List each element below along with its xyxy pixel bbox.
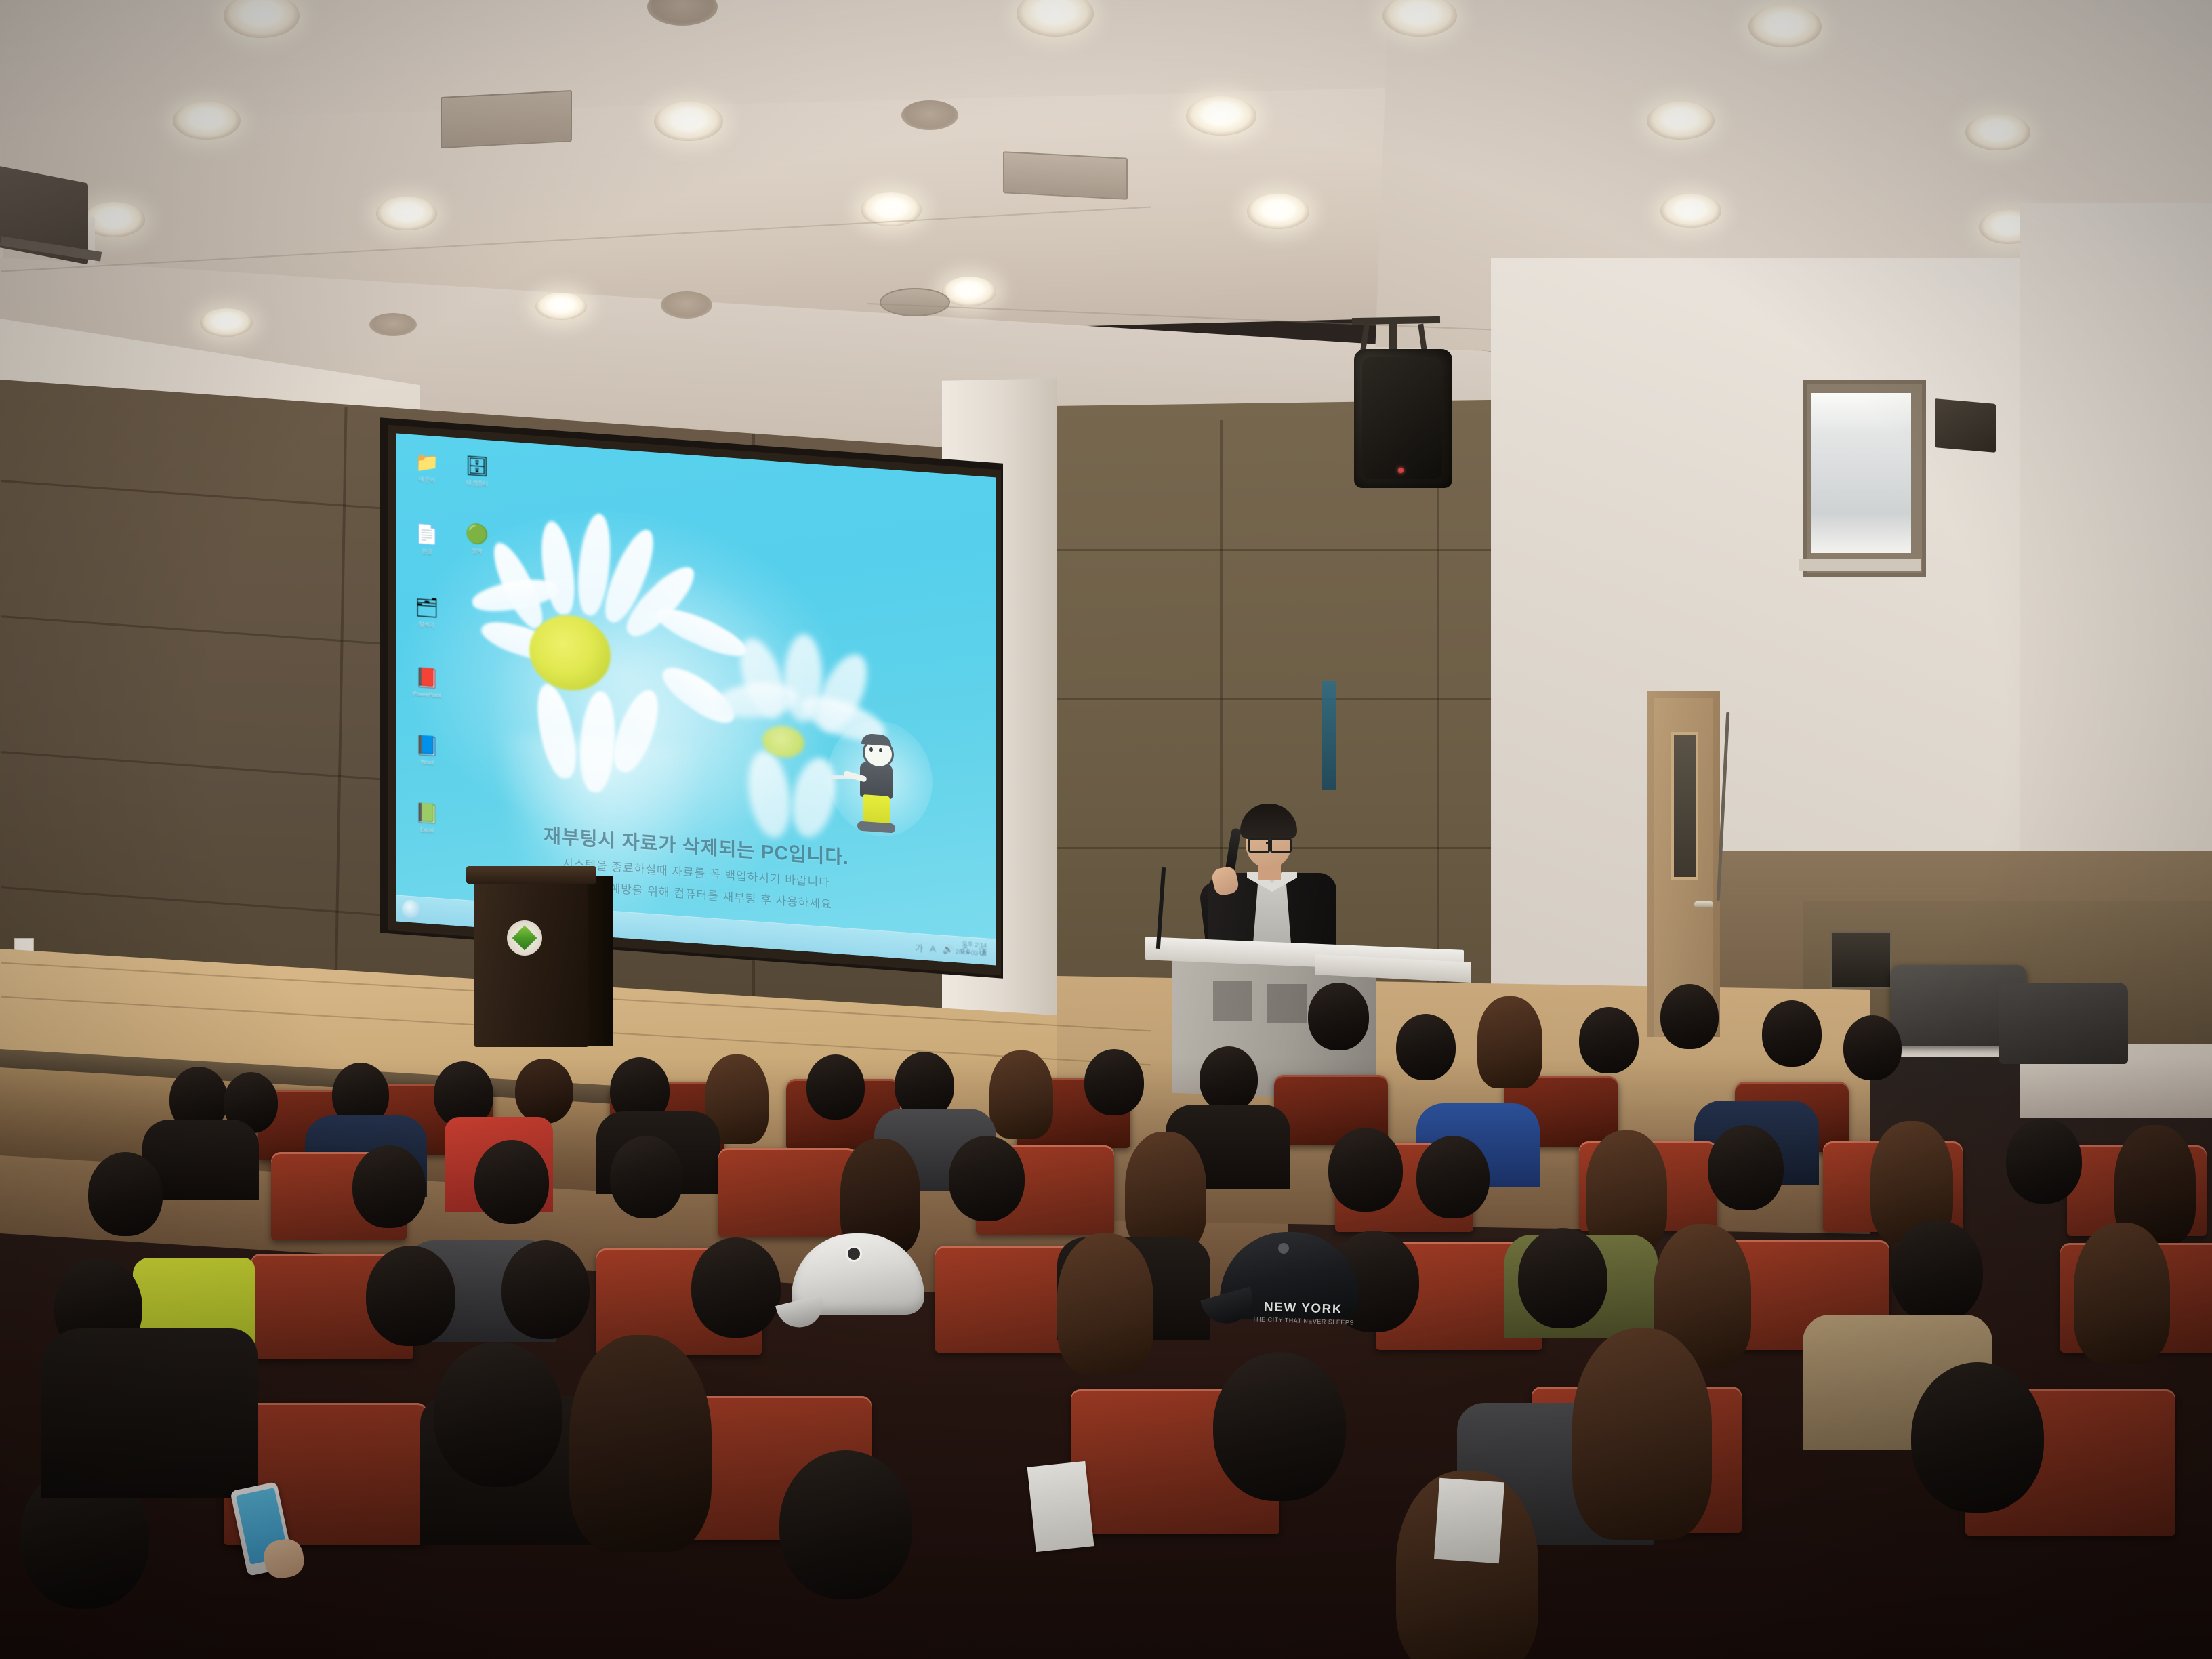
- audience-head: [610, 1136, 683, 1218]
- keyboard-layout-icon[interactable]: A: [930, 943, 936, 954]
- lectern-panel: [1267, 984, 1307, 1023]
- audience-head: [515, 1059, 573, 1124]
- university-crest-icon: [512, 926, 537, 951]
- audience-head: [474, 1140, 549, 1224]
- cap-button: [846, 1246, 862, 1262]
- ceiling-downlight: [661, 291, 712, 319]
- seat[interactable]: [718, 1148, 857, 1237]
- desktop-icon-powerpoint[interactable]: 📕 PowerPoint: [411, 665, 443, 699]
- ceiling-downlight: [200, 308, 253, 337]
- audience-head: [779, 1450, 912, 1599]
- audience-head: [1308, 983, 1369, 1050]
- audience-head: [1572, 1328, 1712, 1540]
- ceiling-vent: [1003, 151, 1128, 200]
- lectern-panel: [1213, 981, 1252, 1021]
- pa-speaker-bracket-post: [1389, 319, 1397, 352]
- audience-head: [1328, 1128, 1403, 1212]
- projection-booth-window-sill: [1799, 559, 1921, 571]
- audience-head: [1057, 1233, 1153, 1374]
- ceiling-downlight: [1965, 114, 2030, 150]
- audience-head: [1579, 1007, 1639, 1073]
- audience-head: [1891, 1220, 1983, 1323]
- start-button[interactable]: [402, 899, 421, 920]
- glasses-icon: [1270, 838, 1292, 853]
- audience-head: [1660, 984, 1719, 1049]
- note-paper: [1434, 1478, 1504, 1563]
- audience-shoulders: [41, 1328, 258, 1498]
- auditorium-photo: 재부팅시 자료가 삭제되는 PC입니다. 시스템을 종료하실때 자료를 꼭 백업…: [0, 0, 2212, 1659]
- audience-head: [1708, 1125, 1784, 1210]
- door-handle[interactable]: [1694, 901, 1713, 907]
- ceiling-vent: [441, 90, 572, 148]
- audience-head: [88, 1152, 163, 1236]
- desktop-icon-my-computer[interactable]: 🗄 내 컴퓨터: [462, 453, 493, 489]
- ceiling-downlight: [901, 100, 958, 130]
- podium-side: [587, 876, 613, 1046]
- powerpoint-icon: 📕: [413, 665, 441, 691]
- audience-head: [691, 1237, 781, 1338]
- audience-head: [949, 1136, 1025, 1221]
- audience-head: [1125, 1132, 1206, 1251]
- audience-head: [1843, 1015, 1902, 1080]
- audience-head: [989, 1050, 1053, 1139]
- ceiling-downlight: [173, 102, 241, 140]
- alyac-icon: 🟢: [464, 521, 491, 548]
- ceiling-downlight: [1247, 194, 1309, 229]
- audience-head: [352, 1145, 426, 1228]
- ime-indicator-icon[interactable]: 가: [915, 941, 923, 954]
- podium-emblem: [507, 920, 542, 956]
- audience-head: [1200, 1046, 1258, 1111]
- hangul-icon: 📄: [413, 521, 441, 548]
- ceiling-downlight: [535, 293, 587, 320]
- glasses-bridge: [1266, 842, 1271, 844]
- audience-head: [1586, 1130, 1667, 1251]
- taskbar-clock[interactable]: 오후 2:14 2014-03-04: [956, 939, 987, 958]
- audience-head: [1477, 996, 1542, 1088]
- audience-head: [1518, 1228, 1607, 1328]
- audience-head: [1416, 1136, 1490, 1218]
- glasses-icon: [1248, 838, 1270, 853]
- ceiling-downlight: [1186, 96, 1256, 136]
- explorer-icon: 🗂: [413, 594, 441, 621]
- ceiling-downlight: [942, 276, 996, 306]
- desktop-icon-hangul[interactable]: 📄 한글: [411, 521, 443, 556]
- audience-head: [1213, 1352, 1346, 1501]
- ceiling-downlight: [369, 313, 417, 336]
- audience-head: [2006, 1118, 2082, 1204]
- mascot-eye: [879, 748, 882, 752]
- ceiling-downlight: [1647, 102, 1715, 140]
- door-vision-panel: [1671, 732, 1698, 880]
- excel-icon: 📗: [413, 800, 441, 827]
- audience-head: [1084, 1049, 1144, 1115]
- ceiling-downlight: [376, 197, 437, 230]
- cap-button: [1278, 1243, 1289, 1254]
- word-icon: 📘: [413, 733, 441, 759]
- wall-accent-stripe: [1322, 681, 1336, 790]
- desktop-icon-excel[interactable]: 📗 Excel: [411, 800, 443, 834]
- audience-head: [1911, 1362, 2044, 1513]
- podium[interactable]: [474, 874, 588, 1047]
- podium-top: [466, 866, 596, 884]
- audience-head: [806, 1054, 865, 1120]
- ceiling-vent: [880, 288, 950, 316]
- desktop-icon-explorer[interactable]: 🗂 탐색기: [411, 594, 443, 630]
- audience-head: [569, 1335, 712, 1552]
- pa-speaker-grille: [1362, 357, 1442, 479]
- ceiling-downlight: [1660, 194, 1721, 228]
- ceiling-downlight: [1748, 5, 1822, 47]
- note-paper: [1027, 1461, 1094, 1552]
- my-documents-icon: 📁: [413, 449, 441, 476]
- audience-head: [2074, 1223, 2170, 1364]
- desktop-icon-alyac[interactable]: 🟢 알약: [462, 521, 493, 556]
- empty-chair[interactable]: [1999, 983, 2128, 1064]
- wall-speaker-icon: [1935, 398, 1996, 453]
- mascot-eye: [869, 747, 873, 752]
- pa-power-led: [1398, 468, 1404, 473]
- desktop-icon-my-documents[interactable]: 📁 내 문서: [411, 449, 443, 485]
- audience-head: [366, 1246, 455, 1346]
- volume-icon[interactable]: 🔊: [943, 944, 954, 956]
- wall-return-air-vent: [1830, 931, 1892, 989]
- ceiling-downlight: [654, 102, 723, 141]
- my-computer-icon: 🗄: [464, 453, 491, 480]
- audience-head: [1762, 1000, 1822, 1067]
- audience-head: [501, 1240, 590, 1339]
- desktop-icon-word[interactable]: 📘 Word: [411, 733, 443, 766]
- projection-booth-window-glass: [1811, 393, 1911, 553]
- audience-head: [434, 1342, 562, 1487]
- audience-head: [1396, 1014, 1456, 1080]
